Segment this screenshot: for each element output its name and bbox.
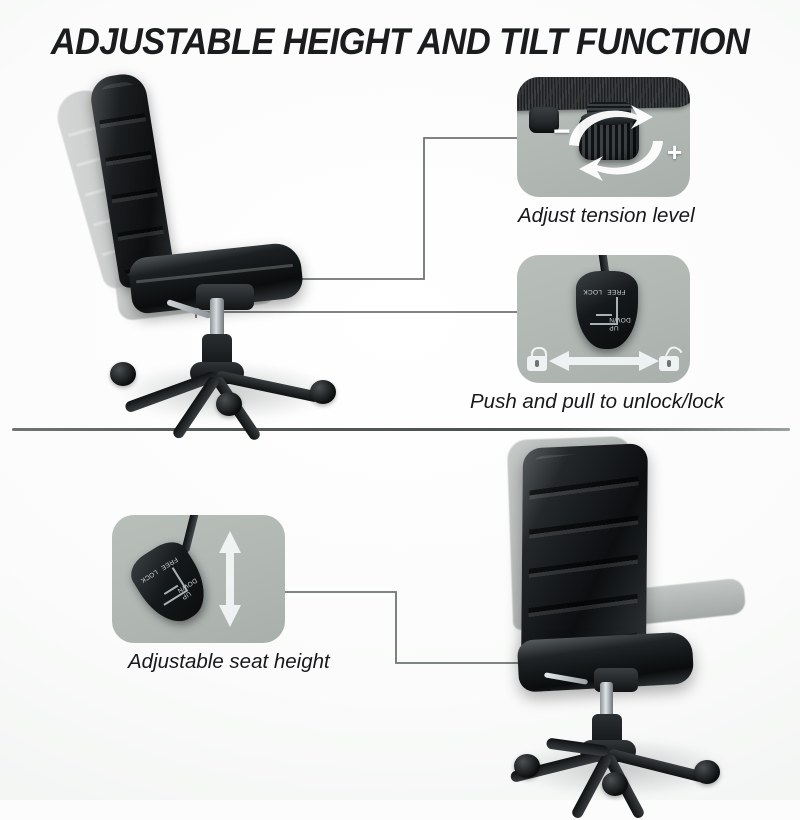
callout-adjustable-seat-height[interactable]: LOCK FREE DOWN UP Adjustable seat height	[112, 515, 330, 674]
caster-wheel	[110, 362, 136, 386]
lever-label-lock: LOCK	[583, 287, 602, 295]
caster-wheel	[694, 760, 720, 784]
callout-seat-caption: Adjustable seat height	[128, 650, 330, 674]
lever-paddle: LOCK FREE DOWN UP	[124, 534, 218, 633]
tilt-lock-lever-icon: LOCK FREE DOWN UP	[572, 255, 642, 359]
double-arrow-vertical	[217, 531, 243, 627]
lever-pictogram	[590, 297, 618, 325]
padlock-body	[527, 356, 547, 371]
callout-push-pull-lock[interactable]: LOCK FREE DOWN UP	[517, 255, 724, 414]
callout-seat-image: LOCK FREE DOWN UP	[112, 515, 285, 643]
callout-lock-image: LOCK FREE DOWN UP	[517, 255, 690, 383]
section-divider	[12, 428, 790, 431]
chair-backrest	[521, 443, 648, 657]
decrease-sign: −	[553, 119, 571, 145]
callout-lock-caption: Push and pull to unlock/lock	[470, 390, 724, 414]
lever-glyph: LOCK FREE DOWN UP	[124, 534, 218, 633]
rotate-counterclockwise-arrow	[575, 139, 671, 185]
office-chair-side-view-photo	[70, 62, 350, 402]
infographic-page: ADJUSTABLE HEIGHT AND TILT FUNCTION	[0, 0, 800, 800]
height-lever-icon: LOCK FREE DOWN UP	[134, 515, 214, 631]
caster-wheel	[216, 392, 242, 416]
padlock-body	[659, 356, 679, 371]
callout-tension-image: − +	[517, 77, 690, 197]
double-arrow-horizontal	[549, 350, 659, 372]
callout-tension-caption: Adjust tension level	[517, 204, 695, 228]
padlock-closed-icon	[527, 347, 547, 371]
callout-adjust-tension[interactable]: − + Adjust tension level	[517, 77, 695, 228]
lever-glyph: LOCK FREE DOWN UP	[576, 271, 638, 349]
page-title: ADJUSTABLE HEIGHT AND TILT FUNCTION	[28, 18, 772, 66]
increase-sign: +	[667, 139, 682, 165]
caster-wheel	[602, 772, 628, 796]
padlock-open-icon	[659, 347, 679, 371]
caster-wheel	[310, 380, 336, 404]
office-chair-front-view-photo	[470, 432, 800, 792]
lever-label-free: FREE	[607, 287, 626, 295]
tilt-mechanism	[196, 284, 254, 310]
caster-wheel	[514, 754, 540, 778]
lever-paddle: LOCK FREE DOWN UP	[576, 271, 638, 349]
